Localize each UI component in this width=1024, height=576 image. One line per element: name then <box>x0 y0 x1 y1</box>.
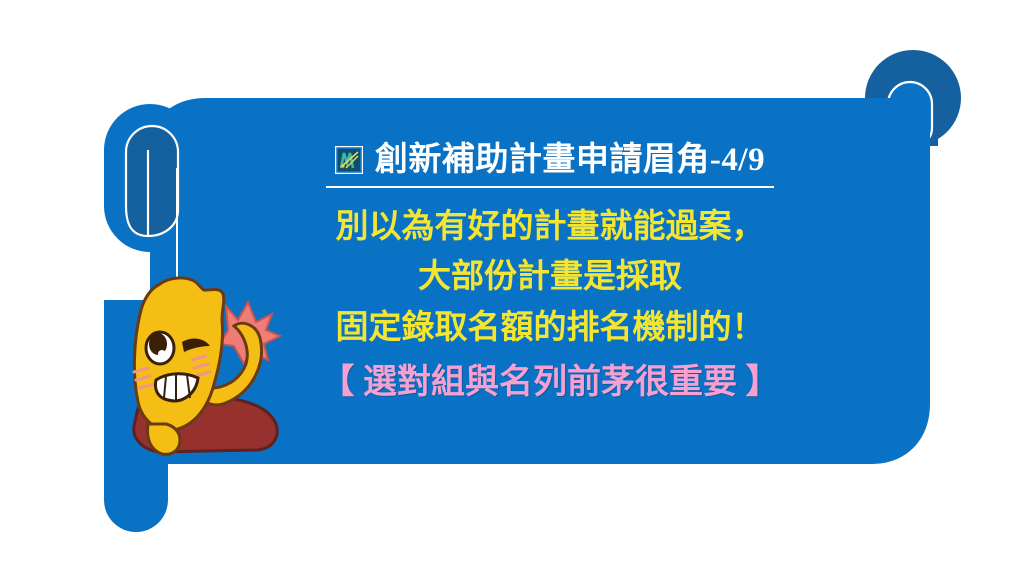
page-title: 創新補助計畫申請眉角-4/9 <box>375 142 765 178</box>
body-text-block: 別以為有好的計畫就能過案， 大部份計畫是採取 固定錄取名額的排名機制的！ 【 選… <box>321 202 780 407</box>
slide-canvas: 創新補助計畫申請眉角-4/9 別以為有好的計畫就能過案， 大部份計畫是採取 固定… <box>0 0 1024 576</box>
body-line-1: 別以為有好的計畫就能過案， <box>336 202 765 252</box>
chart-thumbnail-icon <box>335 146 363 174</box>
highlight-statement: 【 選對組與名列前茅很重要 】 <box>321 357 780 408</box>
body-line-2: 大部份計畫是採取 <box>418 252 682 302</box>
title-divider <box>326 186 774 188</box>
body-line-3: 固定錄取名額的排名機制的！ <box>336 303 765 353</box>
banner-text-content: 創新補助計畫申請眉角-4/9 別以為有好的計畫就能過案， 大部份計畫是採取 固定… <box>180 120 920 450</box>
mascot-eye-glint <box>158 350 166 358</box>
title-row: 創新補助計畫申請眉角-4/9 <box>335 142 765 178</box>
